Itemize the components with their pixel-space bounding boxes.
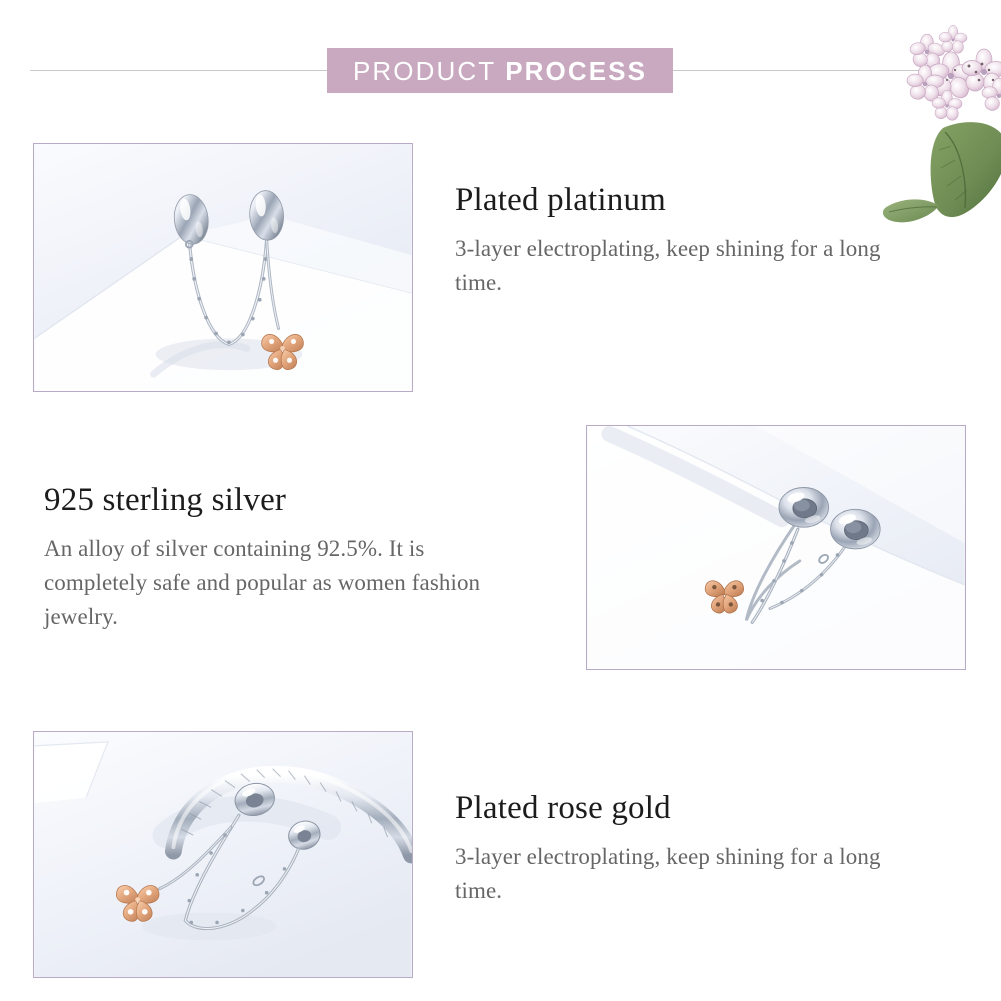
banner-label-product: PRODUCT <box>353 58 496 84</box>
feature-title: Plated platinum <box>455 182 895 218</box>
feature-description: An alloy of silver containing 92.5%. It … <box>44 532 504 634</box>
feature-block-plated-platinum: Plated platinum 3-layer electroplating, … <box>455 182 895 300</box>
header-divider-left <box>30 70 328 71</box>
section-title-banner: PRODUCT PROCESS <box>327 48 673 93</box>
feature-block-plated-rose-gold: Plated rose gold 3-layer electroplating,… <box>455 790 895 908</box>
feature-description: 3-layer electroplating, keep shining for… <box>455 840 895 908</box>
feature-block-sterling-silver: 925 sterling silver An alloy of silver c… <box>44 482 504 634</box>
feature-title: Plated rose gold <box>455 790 895 826</box>
photo-safety-chain-angled <box>33 143 413 392</box>
banner-label-process: PROCESS <box>505 58 647 84</box>
header-divider-right <box>673 70 971 71</box>
photo-safety-chain-topdown <box>586 425 966 670</box>
lilac-blossom-icon <box>881 0 1001 230</box>
feature-title: 925 sterling silver <box>44 482 504 518</box>
feature-description: 3-layer electroplating, keep shining for… <box>455 232 895 300</box>
product-process-infographic: PRODUCT PROCESS <box>0 0 1001 1001</box>
photo-safety-chain-on-bracelet <box>33 731 413 978</box>
